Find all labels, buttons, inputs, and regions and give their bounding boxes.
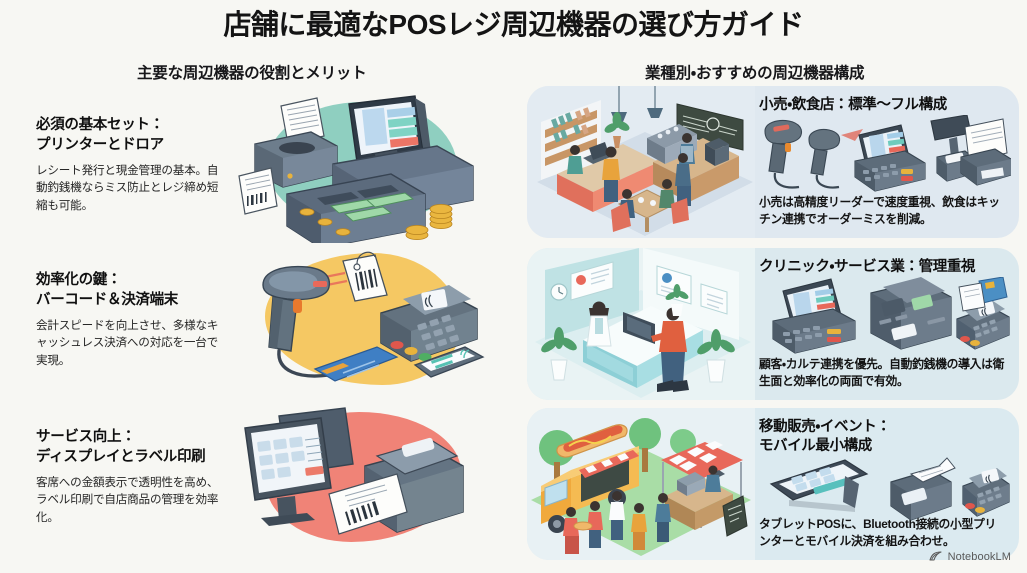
right-card-2-text: クリニック・サービス業：管理重視 — [755, 248, 1019, 400]
right-column-heading: 業種別・おすすめの周辺機器構成 — [645, 61, 864, 83]
page-title: 店舗に最適なPOSレジ周辺機器の選び方ガイド — [0, 8, 1027, 42]
right-card-clinic-service: クリニック・サービス業：管理重視 — [527, 248, 1019, 400]
left-section-1-title-line1: 必須の基本セット： — [36, 116, 219, 135]
right-card-3-title-line1: 移動販売・イベント： — [759, 418, 1005, 437]
barcode-scanner-payment-terminal-illustration — [225, 243, 493, 398]
left-section-2-title-line2: バーコード＆決済端末 — [36, 291, 219, 310]
left-section-3-text: サービス向上： ディスプレイとラベル印刷 客席への金額表示で透明性を高め、ラベル… — [0, 428, 225, 526]
left-section-2-body: 会計スピードを向上させ、多様なキャッシュレス決済への対応を一台で実現。 — [36, 317, 219, 370]
right-card-2-title: クリニック・サービス業：管理重視 — [759, 258, 1005, 277]
right-card-retail-restaurant: 小売・飲食店：標準～フル構成 — [527, 86, 1019, 238]
left-section-3-title: サービス向上： ディスプレイとラベル印刷 — [36, 428, 219, 466]
left-column: 必須の基本セット： プリンターとドロア レシート発行と現金管理の基本。自動釣銭機… — [0, 88, 512, 568]
left-section-1: 必須の基本セット： プリンターとドロア レシート発行と現金管理の基本。自動釣銭機… — [0, 88, 512, 243]
left-section-3: サービス向上： ディスプレイとラベル印刷 客席への金額表示で透明性を高め、ラベル… — [0, 400, 512, 555]
infographic-page: 店舗に最適なPOSレジ周辺機器の選び方ガイド 主要な周辺機器の役割とメリット 業… — [0, 0, 1027, 573]
right-card-1-title: 小売・飲食店：標準～フル構成 — [759, 96, 1005, 115]
left-section-1-body: レシート発行と現金管理の基本。自動釣銭機ならミス防止とレジ締め短縮も可能。 — [36, 162, 219, 215]
left-section-1-text: 必須の基本セット： プリンターとドロア レシート発行と現金管理の基本。自動釣銭機… — [0, 116, 225, 214]
right-card-mobile-event: 移動販売・イベント： モバイル最小構成 — [527, 408, 1019, 560]
right-card-1-devices — [759, 115, 1005, 194]
notebooklm-logo-icon — [929, 551, 943, 563]
right-card-2-title-line1: クリニック・サービス業：管理重視 — [759, 258, 1005, 277]
customer-display-label-printer-illustration — [225, 400, 493, 555]
right-card-1-body: 小売は高精度リーダーで速度重視、飲食はキッチン連携でオーダーミスを削減。 — [759, 194, 1005, 228]
pos-terminal-printer-cash-drawer-illustration — [225, 88, 493, 243]
right-column: 小売・飲食店：標準～フル構成 — [527, 86, 1027, 568]
left-section-2: 効率化の鍵： バーコード＆決済端末 会計スピードを向上させ、多様なキャッシュレス… — [0, 243, 512, 398]
right-card-3-text: 移動販売・イベント： モバイル最小構成 — [755, 408, 1019, 560]
right-card-3-devices — [759, 456, 1005, 516]
left-section-1-title-line2: プリンターとドロア — [36, 136, 219, 155]
left-section-2-title: 効率化の鍵： バーコード＆決済端末 — [36, 271, 219, 309]
left-section-3-title-line1: サービス向上： — [36, 428, 219, 447]
food-truck-event-scene — [527, 408, 755, 560]
right-card-2-devices — [759, 277, 1005, 356]
right-card-3-title: 移動販売・イベント： モバイル最小構成 — [759, 418, 1005, 456]
right-card-1-title-line1: 小売・飲食店：標準～フル構成 — [759, 96, 1005, 115]
right-card-3-title-line2: モバイル最小構成 — [759, 437, 1005, 456]
retail-cafe-scene — [527, 86, 755, 238]
left-section-3-title-line2: ディスプレイとラベル印刷 — [36, 448, 219, 467]
left-section-2-title-line1: 効率化の鍵： — [36, 271, 219, 290]
notebooklm-label: NotebookLM — [948, 551, 1011, 563]
left-section-2-text: 効率化の鍵： バーコード＆決済端末 会計スピードを向上させ、多様なキャッシュレス… — [0, 271, 225, 369]
right-card-1-text: 小売・飲食店：標準～フル構成 — [755, 86, 1019, 238]
clinic-reception-scene — [527, 248, 755, 400]
right-card-2-body: 顧客・カルテ連携を優先。自動釣銭機の導入は衛生面と効率化の両面で有効。 — [759, 356, 1005, 390]
left-section-3-body: 客席への金額表示で透明性を高め、ラベル印刷で自店商品の管理を効率化。 — [36, 474, 219, 527]
left-column-heading: 主要な周辺機器の役割とメリット — [137, 61, 367, 83]
left-section-1-title: 必須の基本セット： プリンターとドロア — [36, 116, 219, 154]
notebooklm-watermark: NotebookLM — [929, 551, 1011, 563]
